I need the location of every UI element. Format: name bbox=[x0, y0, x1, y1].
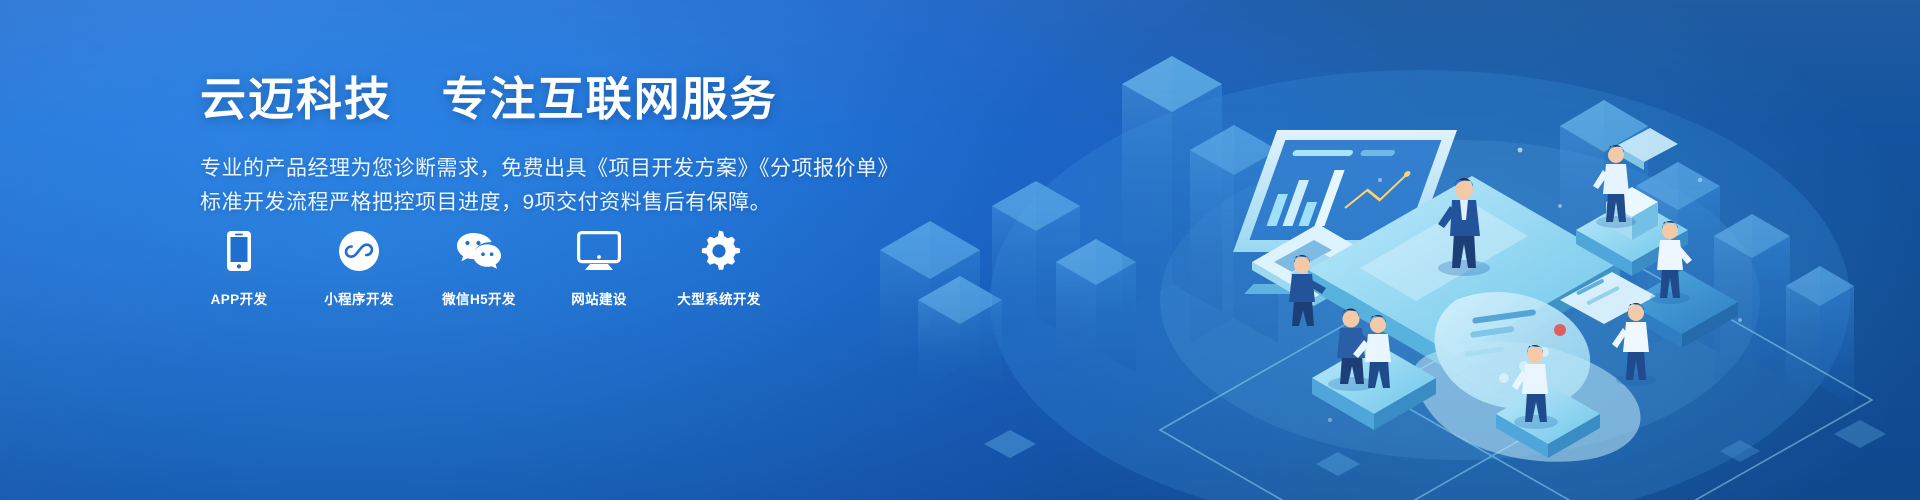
subtitle-line-2: 标准开发流程严格把控项目进度，9项交付资料售后有保障。 bbox=[200, 186, 960, 220]
mini-program-icon bbox=[338, 228, 380, 274]
isometric-illustration bbox=[860, 0, 1920, 500]
hero-copy: 云迈科技 专注互联网服务 专业的产品经理为您诊断需求，免费出具《项目开发方案》《… bbox=[200, 72, 960, 220]
service-item-system[interactable]: 大型系统开发 bbox=[680, 228, 758, 308]
mobile-phone-icon bbox=[226, 228, 252, 274]
service-label-website: 网站建设 bbox=[571, 288, 627, 308]
page-title: 云迈科技 专注互联网服务 bbox=[200, 72, 960, 126]
service-item-app[interactable]: APP开发 bbox=[200, 228, 278, 308]
subtitle-line-1: 专业的产品经理为您诊断需求，免费出具《项目开发方案》《分项报价单》 bbox=[200, 152, 960, 186]
service-label-wechat: 微信H5开发 bbox=[442, 288, 516, 308]
service-label-system: 大型系统开发 bbox=[677, 288, 760, 308]
hero-subtitle: 专业的产品经理为您诊断需求，免费出具《项目开发方案》《分项报价单》 标准开发流程… bbox=[200, 152, 960, 220]
service-item-website[interactable]: 网站建设 bbox=[560, 228, 638, 308]
headline-tagline: 专注互联网服务 bbox=[442, 73, 778, 125]
service-label-app: APP开发 bbox=[211, 288, 268, 308]
wechat-icon bbox=[456, 228, 502, 274]
service-item-wechat[interactable]: 微信H5开发 bbox=[440, 228, 518, 308]
service-label-miniprogram: 小程序开发 bbox=[324, 288, 394, 308]
service-item-miniprogram[interactable]: 小程序开发 bbox=[320, 228, 398, 308]
hero-banner: 云迈科技 专注互联网服务 专业的产品经理为您诊断需求，免费出具《项目开发方案》《… bbox=[0, 0, 1920, 500]
gear-icon bbox=[698, 228, 740, 274]
monitor-icon bbox=[577, 228, 621, 274]
service-list: APP开发 小程序开发 微信 bbox=[200, 228, 758, 308]
headline-brand: 云迈科技 bbox=[200, 73, 392, 125]
